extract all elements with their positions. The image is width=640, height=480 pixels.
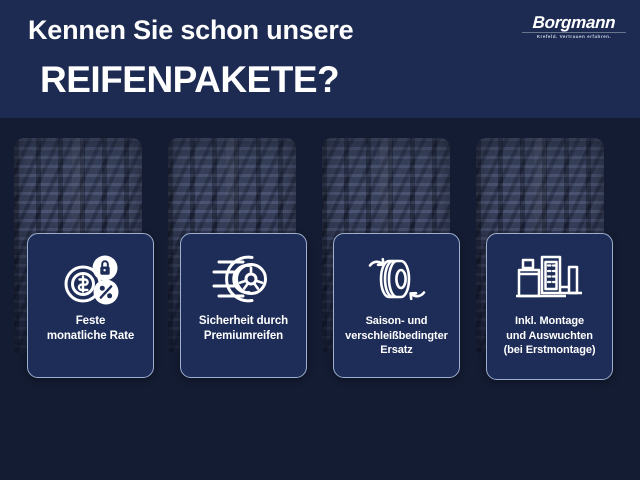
feature-card-label-line: Inkl. Montage: [492, 314, 608, 329]
coin-lock-percent-icon: [60, 248, 122, 310]
feature-card-label-line: monatliche Rate: [33, 329, 149, 344]
header-band: Kennen Sie schon unsere REIFENPAKETE? Bo…: [0, 0, 640, 118]
feature-card-sicherheit-durch-premiumreifen[interactable]: Sicherheit durch Premiumreifen: [180, 233, 307, 378]
feature-card-feste-monatliche-rate[interactable]: Feste monatliche Rate: [27, 233, 154, 378]
borgmann-logo[interactable]: Borgmann Krefeld. Vertrauen erfahren.: [520, 14, 628, 44]
headline-secondary: REIFENPAKETE?: [40, 61, 339, 98]
feature-card-label-line: und Auswuchten: [492, 329, 608, 344]
feature-card-label-line: Saison- und: [339, 314, 455, 329]
feature-card-label-line: (bei Erstmontage): [492, 343, 608, 358]
feature-card-label: Sicherheit durch Premiumreifen: [186, 314, 302, 344]
feature-card-inkl-montage[interactable]: Inkl. Montage und Auswuchten (bei Erstmo…: [486, 233, 613, 380]
feature-card-label-line: Premiumreifen: [186, 329, 302, 344]
feature-card-label-line: Sicherheit durch: [186, 314, 302, 329]
logo-tagline: Krefeld. Vertrauen erfahren.: [520, 34, 628, 39]
feature-card-label: Feste monatliche Rate: [33, 314, 149, 344]
feature-card-label-line: Feste: [33, 314, 149, 329]
tire-speed-icon: [211, 248, 277, 310]
logo-brand-text: Borgmann: [520, 14, 629, 32]
feature-card-saison-ersatz[interactable]: Saison- und verschleißbedingter Ersatz: [333, 233, 460, 378]
tire-stack-rotation-icon: [365, 248, 429, 310]
logo-divider: [522, 32, 626, 33]
feature-card-label: Saison- und verschleißbedingter Ersatz: [339, 314, 455, 358]
promo-banner: Kennen Sie schon unsere REIFENPAKETE? Bo…: [0, 0, 640, 480]
feature-card-label: Inkl. Montage und Auswuchten (bei Erstmo…: [492, 314, 608, 358]
feature-card-label-line: verschleißbedingter: [339, 329, 455, 344]
headline-primary: Kennen Sie schon unsere: [28, 17, 354, 44]
tire-mounting-machine-icon: [514, 248, 586, 310]
feature-card-label-line: Ersatz: [339, 343, 455, 358]
